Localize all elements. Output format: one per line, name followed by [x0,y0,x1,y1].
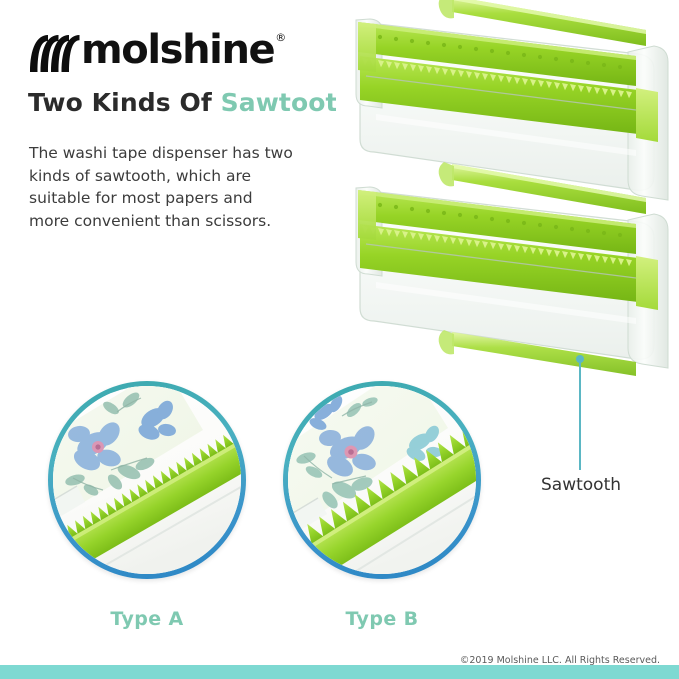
description-line-2: kinds of sawtooth, which are [29,165,314,188]
detail-label-type-a: Type A [48,608,246,630]
description-line-4: more convenient than scissors. [29,210,314,233]
description-paragraph: The washi tape dispenser has two kinds o… [29,142,314,232]
circle-photo-a [53,386,241,574]
description-line-1: The washi tape dispenser has two [29,142,314,165]
callout-leader-line [579,358,581,470]
callout-label-sawtooth: Sawtooth [541,475,621,495]
brand-wordmark: molshine [81,28,274,72]
description-line-3: suitable for most papers and [29,187,314,210]
detail-circle-type-a [48,381,246,579]
headline-lead: Two Kinds Of [28,88,221,117]
page-title: Two Kinds Of Sawtooth [28,88,355,117]
registered-trademark-icon: ® [275,32,286,43]
circle-photo-b [288,386,476,574]
brand-logo: molshine ® [28,28,286,72]
product-infographic-page: molshine ® Two Kinds Of Sawtooth The was… [0,0,679,679]
detail-circle-type-b [283,381,481,579]
detail-label-type-b: Type B [283,608,481,630]
footer-accent-bar [0,665,679,679]
product-photo [336,0,679,394]
molshine-wave-mark-icon [28,28,80,72]
